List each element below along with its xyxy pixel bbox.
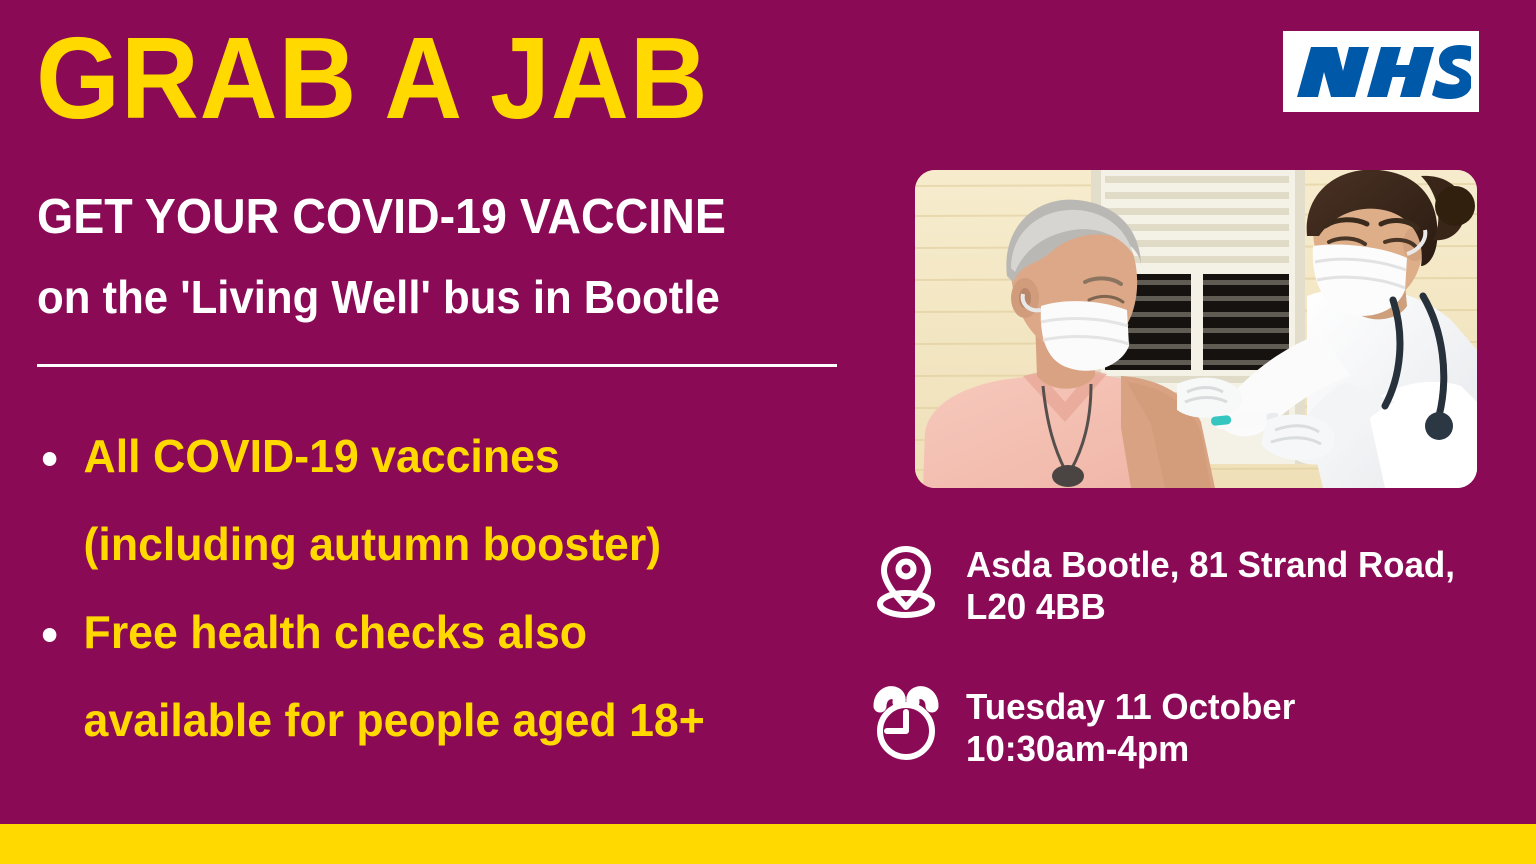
- page-title: GRAB A JAB: [36, 22, 799, 134]
- time-line-2: 10:30am-4pm: [966, 728, 1189, 769]
- subheadline-primary: GET YOUR COVID-19 VACCINE: [37, 190, 726, 244]
- time-line-1: Tuesday 11 October: [966, 686, 1295, 727]
- time-detail-row: Tuesday 11 October 10:30am-4pm: [868, 682, 1305, 770]
- list-item-label: All COVID-19 vaccines: [84, 430, 560, 482]
- alarm-clock-icon: [868, 682, 944, 766]
- nhs-logo: [1283, 31, 1479, 112]
- horizontal-divider: [37, 364, 837, 367]
- list-item: Free health checks also: [37, 588, 842, 676]
- location-text: Asda Bootle, 81 Strand Road, L20 4BB: [966, 540, 1455, 628]
- left-content-column: GRAB A JAB GET YOUR COVID-19 VACCINE on …: [0, 0, 880, 824]
- benefits-list: All COVID-19 vaccines (including autumn …: [37, 412, 867, 764]
- location-line-1: Asda Bootle, 81 Strand Road,: [966, 544, 1455, 585]
- bullet-dot-icon: [43, 452, 57, 466]
- list-item-label-continued: (including autumn booster): [84, 518, 662, 570]
- location-pin-icon: [868, 540, 944, 624]
- location-line-2: L20 4BB: [966, 586, 1106, 627]
- bullet-dot-icon: [43, 628, 57, 642]
- bottom-accent-bar: [0, 824, 1536, 864]
- list-item-continuation: (including autumn booster): [37, 500, 842, 588]
- list-item-label-continued: available for people aged 18+: [84, 694, 705, 746]
- list-item-label: Free health checks also: [84, 606, 587, 658]
- poster-canvas: GRAB A JAB GET YOUR COVID-19 VACCINE on …: [0, 0, 1536, 864]
- subheadline-secondary: on the 'Living Well' bus in Bootle: [37, 270, 720, 324]
- list-item-continuation: available for people aged 18+: [37, 676, 842, 764]
- time-text: Tuesday 11 October 10:30am-4pm: [966, 682, 1295, 770]
- vaccination-photo: [915, 170, 1477, 488]
- location-detail-row: Asda Bootle, 81 Strand Road, L20 4BB: [868, 540, 1470, 628]
- list-item: All COVID-19 vaccines: [37, 412, 842, 500]
